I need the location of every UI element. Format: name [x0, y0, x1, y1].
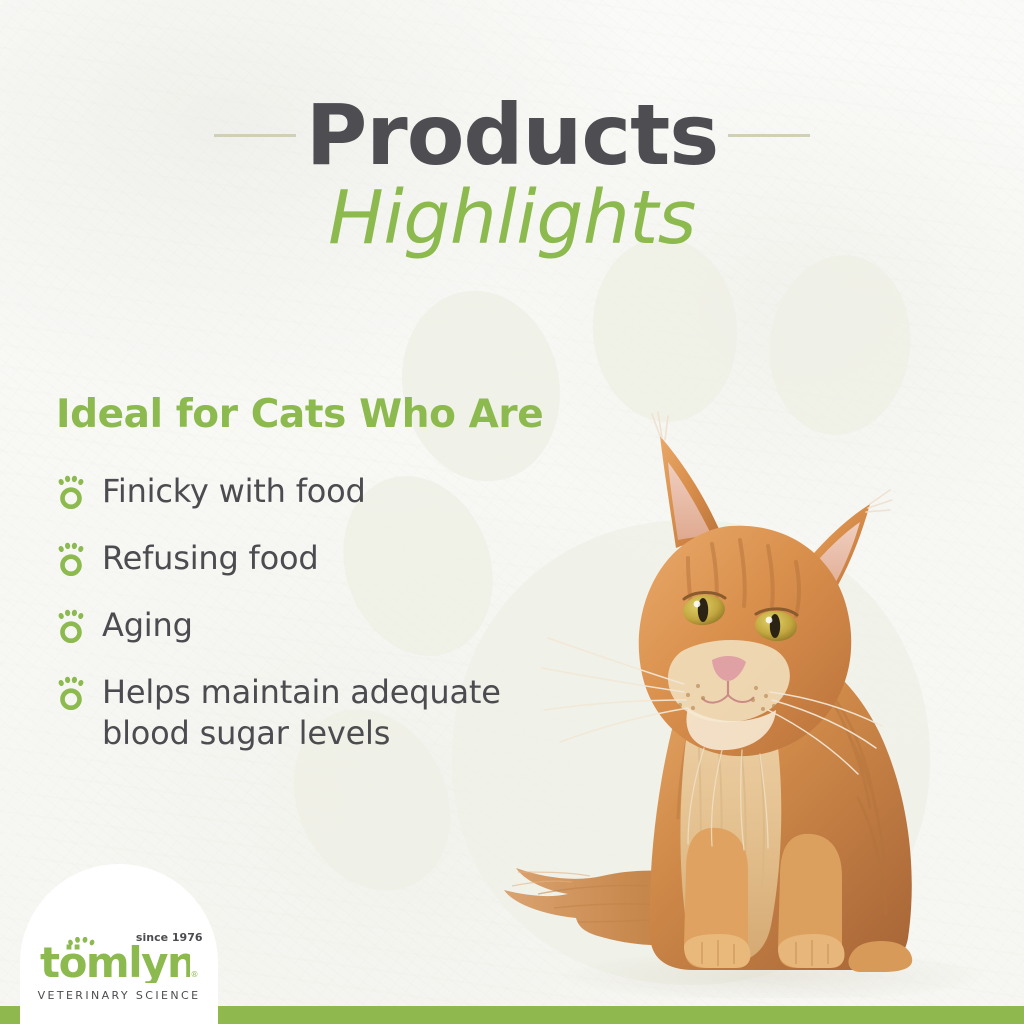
list-item-label: Finicky with food	[102, 471, 366, 512]
cat-photo	[498, 398, 1024, 998]
poster-canvas: Products Highlights Ideal for Cats Who A…	[0, 0, 1024, 1024]
paw-print-icon	[56, 475, 86, 511]
paw-print-icon	[56, 542, 86, 578]
title-rule-right	[728, 134, 810, 137]
title-row: Products	[0, 96, 1024, 176]
list-item-label: Aging	[102, 605, 193, 646]
logo-since-text: since 1976	[136, 931, 203, 944]
paw-print-icon	[56, 676, 86, 712]
logo-tagline: VETERINARY SCIENCE	[38, 989, 201, 1002]
poster-header: Products Highlights	[0, 96, 1024, 257]
paw-print-icon	[56, 609, 86, 645]
page-subtitle: Highlights	[0, 180, 1024, 258]
tomlyn-logo: tömlyn ® since 1976 VETERINARY SCIENCE	[20, 916, 218, 1002]
page-title: Products	[306, 96, 719, 176]
title-rule-left	[214, 134, 296, 137]
logo-wordmark-text: tömlyn	[40, 938, 190, 983]
registered-mark: ®	[191, 970, 199, 979]
list-item-label: Refusing food	[102, 538, 319, 579]
list-item-label: Helps maintain adequate blood sugar leve…	[102, 672, 542, 754]
logo-wordmark-row: tömlyn ® since 1976	[40, 937, 199, 983]
